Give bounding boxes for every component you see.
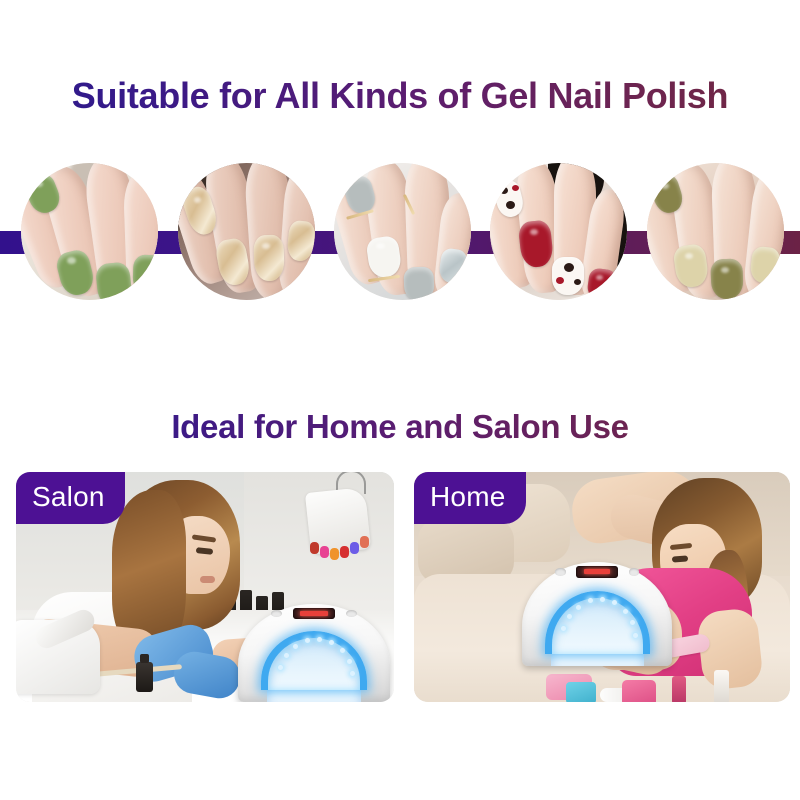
nail-gallery-strip: Hand with sage green square gel nails on… [0,160,800,325]
badge-home: Home [414,472,526,524]
led-nail-lamp-home [522,562,672,666]
nail-sample-circle-1: Hand with sage green square gel nails on… [21,163,158,300]
nail-sample-circle-3: Short nails in grey, white and silver ch… [334,163,471,300]
nail-sample-circle-5: Olive green and nude beige gel nails [647,163,784,300]
page-title-secondary: Ideal for Home and Salon Use [0,406,800,448]
nail-sample-circle-4: Deep red nails with black and white cow … [490,163,627,300]
use-case-photo-home: Home Woman in a pink top lying on a beig… [414,472,790,702]
nail-sample-image-5 [647,163,784,300]
nail-sample-image-2 [178,163,315,300]
nail-sample-circle-2: Long nude nails with gold glitter foil a… [178,163,315,300]
polish-swatch-fan [304,476,376,576]
product-feature-page: Suitable for All Kinds of Gel Nail Polis… [0,0,800,800]
led-nail-lamp-salon [238,604,390,702]
nail-sample-image-1 [21,163,158,300]
nail-sample-image-3 [334,163,471,300]
page-title-primary: Suitable for All Kinds of Gel Nail Polis… [0,74,800,118]
badge-salon: Salon [16,472,125,524]
use-case-photo-salon: Salon Nail technician in white t-shirt w… [16,472,394,702]
nail-sample-image-4 [490,163,627,300]
